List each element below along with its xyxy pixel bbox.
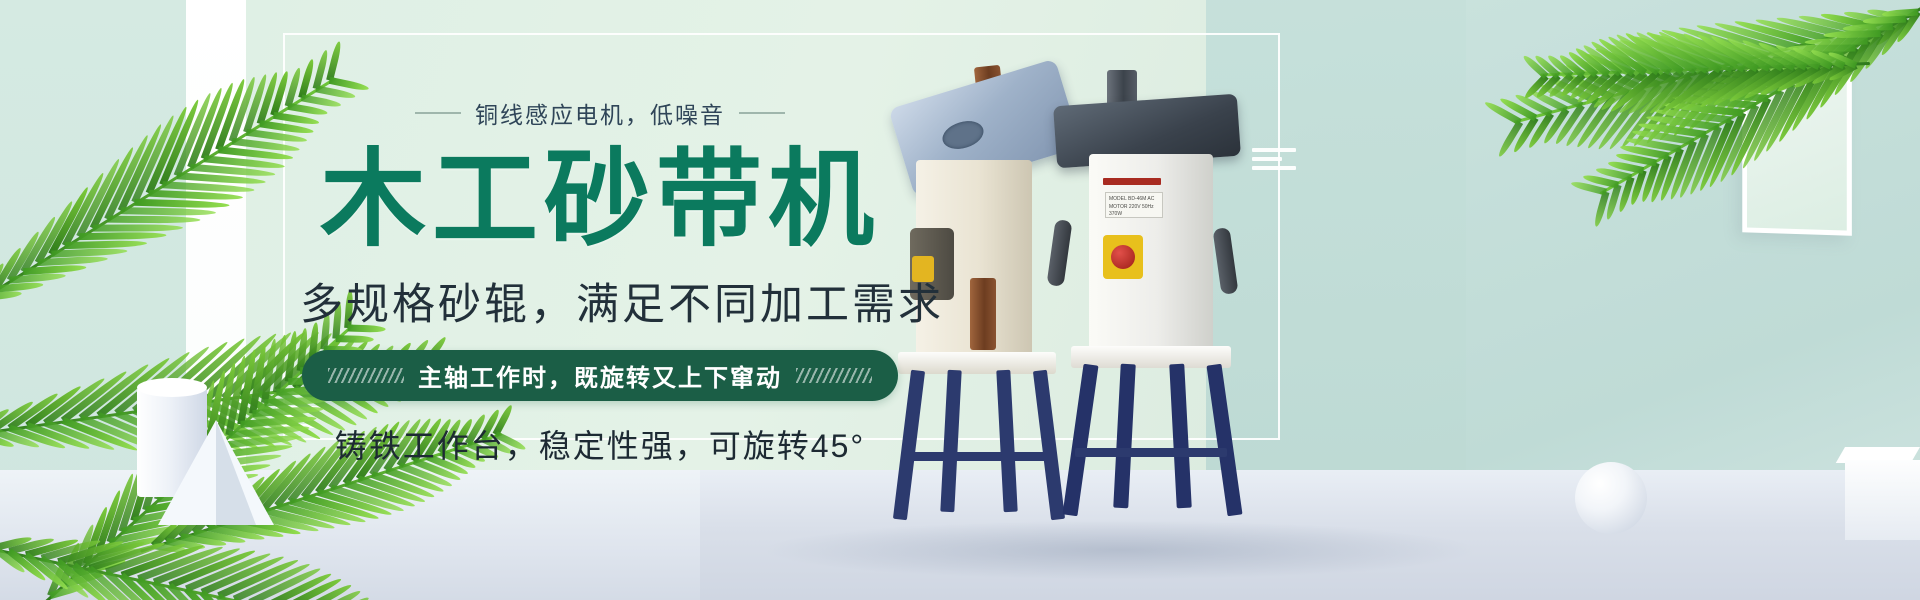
tagline-row: 铜线感应电机，低噪音 <box>300 96 900 130</box>
prop-pyramid-shade <box>216 420 256 525</box>
prop-sphere <box>1575 462 1647 534</box>
tagline-rule-right <box>739 112 785 114</box>
feature-badge: 主轴工作时，既旋转又上下窜动 <box>302 350 898 401</box>
product-banner: MODEL BD-46M AC MOTOR 220V 50Hz 370W 铜线感… <box>0 0 1920 600</box>
feature-badge-text: 主轴工作时，既旋转又上下窜动 <box>418 358 782 393</box>
adjust-handle-right <box>1212 227 1238 295</box>
tagline-text: 铜线感应电机，低噪音 <box>475 96 725 130</box>
stand-rail <box>904 452 1054 461</box>
stand-rail <box>1075 448 1227 457</box>
sanding-drum-lower-left <box>970 278 996 350</box>
adjust-handle-left <box>1046 219 1072 287</box>
estop-red-dot <box>1111 245 1135 269</box>
switch-box-left <box>912 256 934 282</box>
machine-nameplate: MODEL BD-46M AC MOTOR 220V 50Hz 370W <box>1105 192 1163 218</box>
stand-leg <box>1169 364 1192 509</box>
footnote: 铸铁工作台，稳定性强，可旋转45° <box>300 421 900 467</box>
subtitle: 多规格砂辊，满足不同加工需求 <box>300 270 900 332</box>
sander-machine-right: MODEL BD-46M AC MOTOR 220V 50Hz 370W <box>1045 70 1275 490</box>
tagline-rule-left <box>415 112 461 114</box>
brand-strip <box>1103 178 1161 185</box>
stand-leg <box>1113 364 1136 509</box>
palm-frond <box>1540 60 1870 82</box>
emergency-stop-button[interactable] <box>1103 235 1143 279</box>
prop-cube <box>1845 460 1920 540</box>
machine-floor-shadow <box>760 520 1480 580</box>
hatch-icon-right <box>796 368 872 383</box>
page-title: 木工砂带机 <box>300 144 900 256</box>
hatch-icon-left <box>328 368 404 383</box>
copy-block: 铜线感应电机，低噪音 木工砂带机 多规格砂辊，满足不同加工需求 主轴工作时，既旋… <box>300 96 900 467</box>
